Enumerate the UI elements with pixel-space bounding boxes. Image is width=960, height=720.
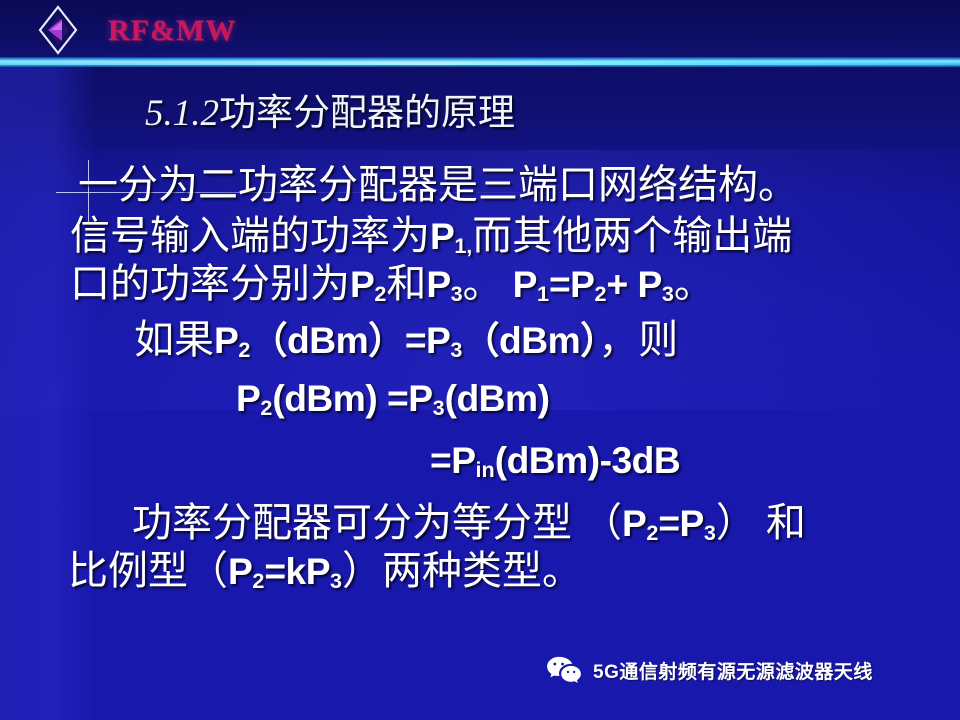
math-subscript: 2 (594, 281, 606, 306)
math-symbol: P3 (426, 263, 462, 305)
math-subscript: 3 (450, 337, 462, 362)
math-symbol: (dBm) (445, 377, 550, 419)
math-subscript: 3 (330, 568, 342, 593)
math-subscript: 3 (451, 281, 463, 306)
math-subscript: in (476, 457, 495, 482)
body-line-4: 如果P2（dBm）=P3（dBm），则 (0, 307, 960, 365)
math-symbol: P2 (228, 550, 264, 592)
math-subscript: 2 (374, 281, 386, 306)
math-symbol: + P3 (606, 263, 673, 305)
math-symbol: P2 (350, 263, 386, 305)
body-text-run: 如果 (134, 317, 214, 362)
footer-watermark: 5G通信射频有源无源滤波器天线 (545, 655, 873, 685)
math-symbol: P1 (513, 263, 549, 305)
body-line-3: 口的功率分别为P2和P3。 P1=P2+ P3。 (0, 251, 960, 309)
math-symbol: =P2 (549, 263, 607, 305)
math-subscript: 2 (252, 568, 264, 593)
math-subscript: 1 (537, 281, 549, 306)
math-symbol: P2 (236, 377, 272, 419)
math-symbol: (dBm)-3dB (495, 439, 681, 481)
body-line-8: 比例型（P2=kP3）两种类型。 (0, 538, 960, 596)
body-text-run: 口的功率分别为 (70, 261, 350, 306)
wechat-icon (545, 655, 583, 685)
header-accent-bar-glow (0, 62, 960, 65)
body-text-run: ）两种类型。 (342, 548, 582, 593)
slide-title: 5.1.2功率分配器的原理 (0, 82, 960, 136)
footer-text: 5G通信射频有源无源滤波器天线 (593, 657, 873, 684)
slide-title-number: 5.1.2 (145, 93, 219, 134)
body-text-run: 。 (463, 261, 513, 306)
body-text-run: 。 (674, 261, 714, 306)
math-symbol: P2 (214, 319, 250, 361)
math-symbol: =Pin (430, 439, 495, 481)
body-line-6: =Pin(dBm)-3dB (0, 436, 960, 483)
body-text-run: 和 (386, 261, 426, 306)
body-text-run: 一分为二功率分配器是三端口网络结构。 (78, 162, 798, 207)
math-subscript: 2 (238, 337, 250, 362)
math-subscript: 2 (260, 395, 272, 420)
body-text-run: ，则 (598, 317, 678, 362)
body-text-run: 比例型（ (68, 548, 228, 593)
math-symbol: =P3 (405, 319, 463, 361)
diamond-arrow-logo-icon (32, 4, 84, 56)
brand-title: RF&MW (108, 14, 236, 48)
slide-header: RF&MW (0, 0, 960, 58)
body-line-5: P2(dBm) =P3(dBm) (0, 374, 960, 421)
math-subscript: 3 (662, 281, 674, 306)
math-subscript: 3 (433, 395, 445, 420)
math-symbol: =kP3 (264, 550, 342, 592)
body-line-1: 一分为二功率分配器是三端口网络结构。 (0, 152, 960, 210)
math-symbol: （dBm） (250, 319, 405, 361)
math-symbol: (dBm) =P3 (272, 377, 444, 419)
slide-title-text: 功率分配器的原理 (219, 93, 515, 134)
math-symbol: （dBm） (462, 319, 598, 361)
presentation-slide: RF&MW 5.1.2功率分配器的原理 一分为二功率分配器是三端口网络结构。 信… (0, 0, 960, 720)
